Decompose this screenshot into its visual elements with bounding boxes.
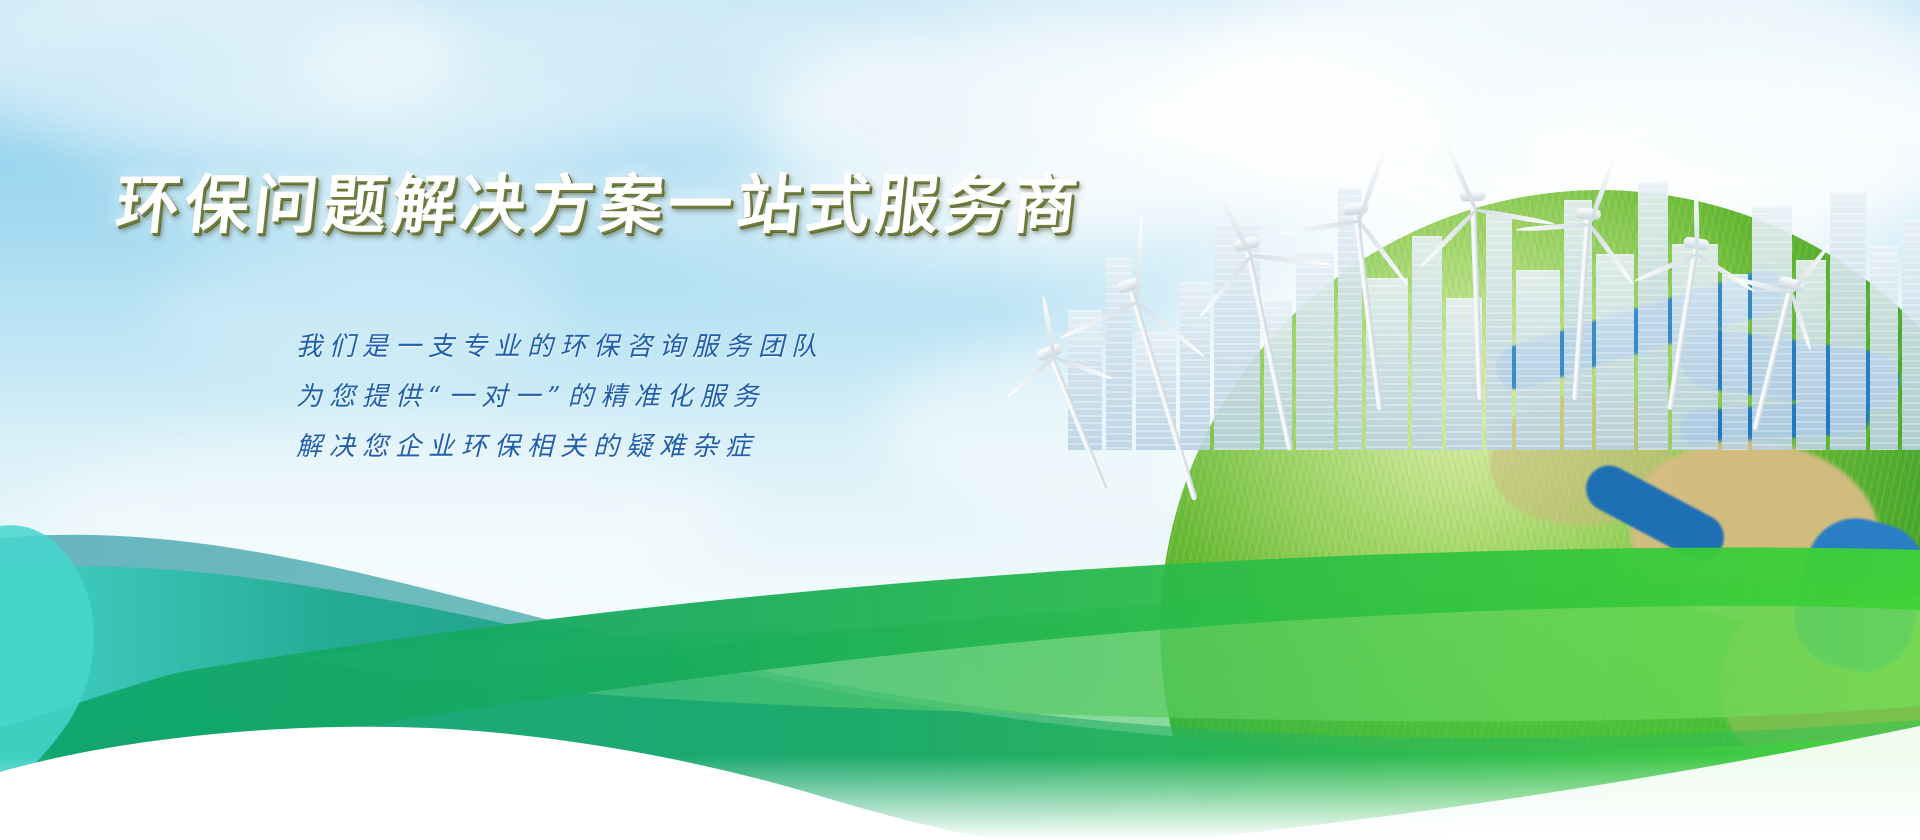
subtitle-line-2: 为您提供“一对一”的精准化服务 <box>296 372 824 422</box>
page-title: 环保问题解决方案一站式服务商 <box>112 172 1085 239</box>
eco-service-hero-banner: 环保问题解决方案一站式服务商 我们是一支专业的环保咨询服务团队 为您提供“一对一… <box>0 0 1920 840</box>
subtitle-line-1: 我们是一支专业的环保咨询服务团队 <box>296 322 824 372</box>
green-wave-ribbon <box>0 420 1920 840</box>
wind-turbine <box>1411 148 1540 402</box>
